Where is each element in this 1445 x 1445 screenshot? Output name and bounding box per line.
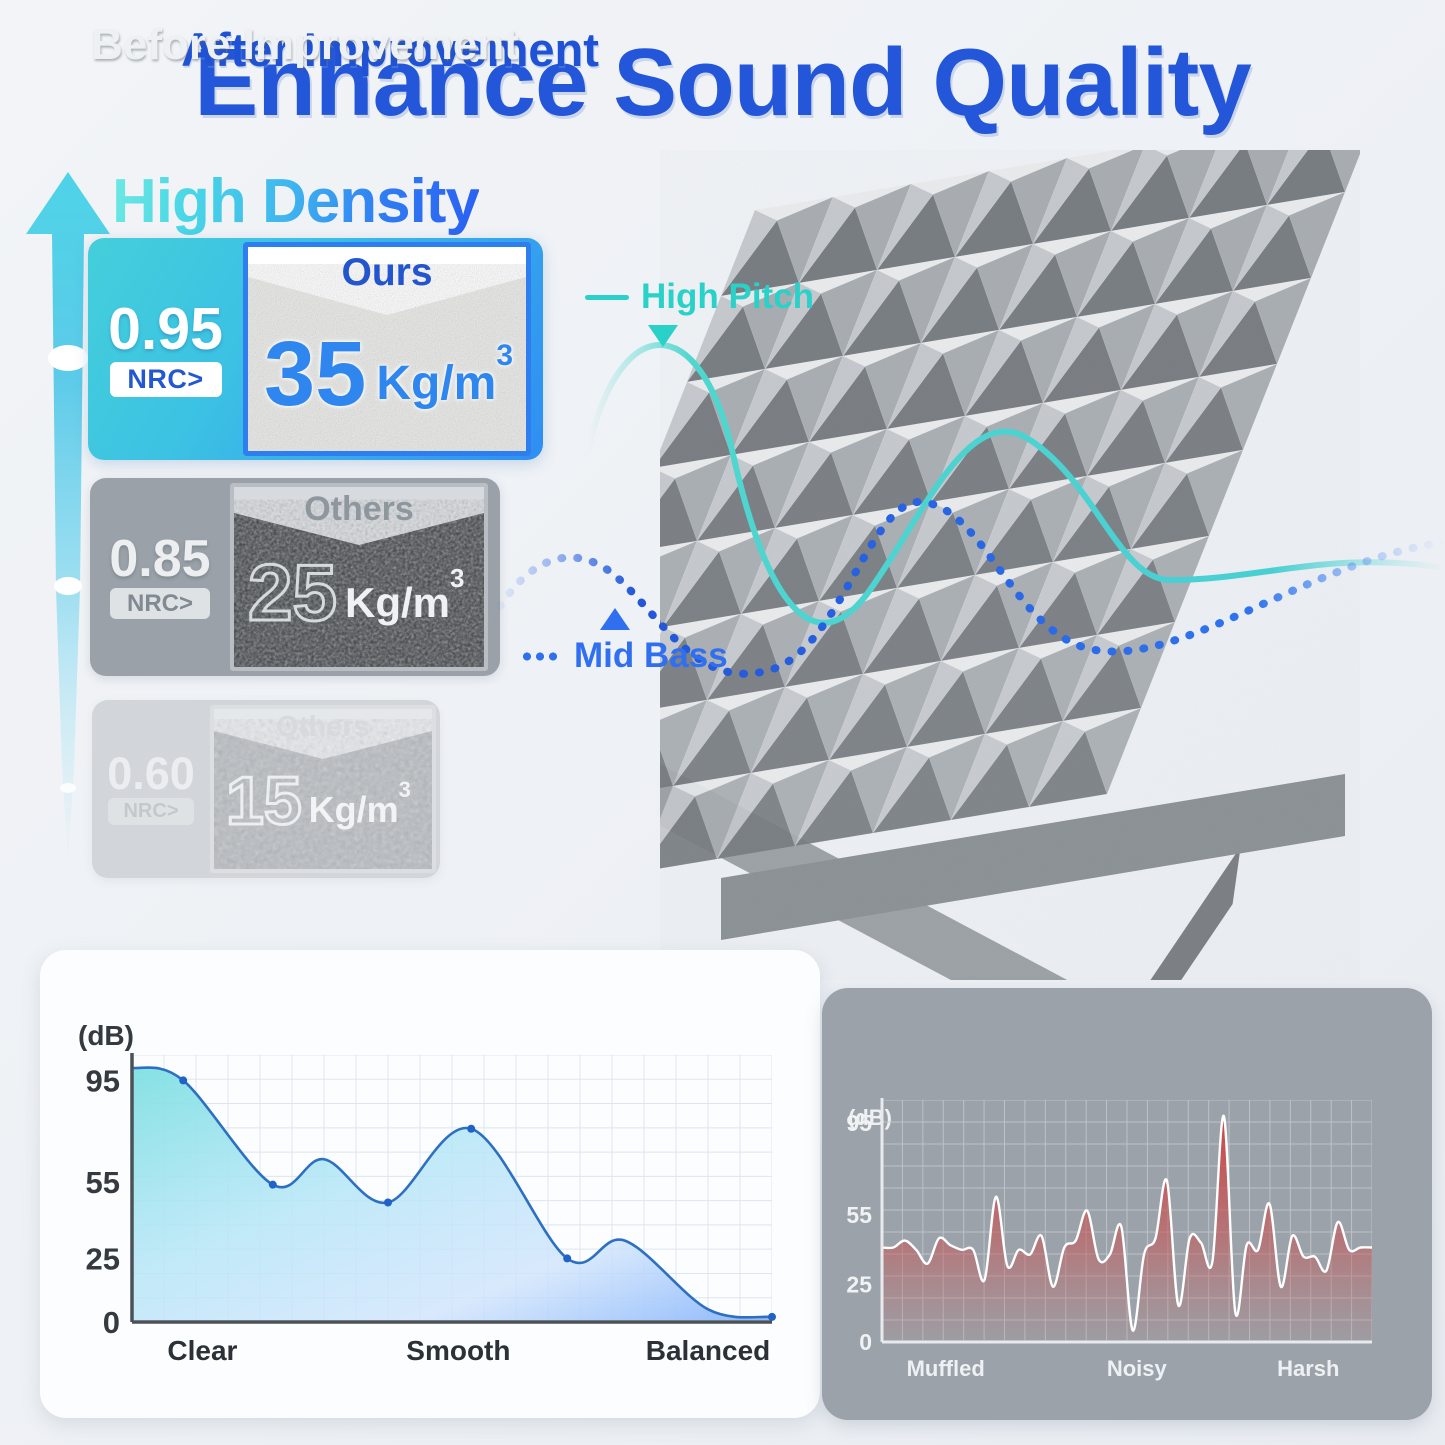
nrc-label: NRC> (110, 362, 222, 397)
svg-text:Balanced: Balanced (646, 1335, 771, 1366)
legend-label: High Pitch (641, 277, 814, 317)
foam-swatch-others-25: Others 25 Kg/m3 (230, 483, 488, 671)
legend-high-pitch: High Pitch (585, 277, 814, 317)
foam-swatch-ours: Ours 35 Kg/m3 (243, 242, 531, 456)
svg-text:25: 25 (846, 1271, 872, 1297)
before-improvement-chart: 9555250 MuffledNoisyHarsh (822, 988, 1432, 1420)
svg-text:95: 95 (86, 1063, 120, 1098)
density-exponent: 3 (399, 779, 411, 801)
density-value: 25 (248, 559, 337, 627)
triangle-up-icon (598, 606, 632, 632)
comparison-card-ours: 0.95 NRC> Ours 35 Kg/m3 (88, 238, 543, 460)
nrc-value: 0.95 (108, 301, 223, 357)
density-unit: Kg/m (345, 585, 450, 621)
legend-mid-bass: Mid Bass (518, 636, 728, 676)
density-readout: 35 Kg/m3 (264, 335, 513, 413)
density-unit: Kg/m (376, 364, 496, 405)
svg-text:Clear: Clear (167, 1335, 237, 1366)
density-unit: Kg/m (309, 795, 399, 826)
svg-text:Muffled: Muffled (907, 1356, 985, 1381)
svg-text:Noisy: Noisy (1107, 1356, 1168, 1381)
comparison-card-others-25: 0.85 NRC> Others 25 Kg/m3 (90, 478, 500, 676)
high-density-title: High Density (112, 166, 479, 237)
svg-text:Harsh: Harsh (1277, 1356, 1339, 1381)
nrc-block: 0.60 NRC> (92, 753, 210, 826)
svg-text:Smooth: Smooth (406, 1335, 510, 1366)
triangle-down-icon (646, 323, 680, 349)
nrc-label: NRC> (108, 798, 194, 825)
density-readout: 25 Kg/m3 (248, 559, 464, 627)
svg-text:0: 0 (103, 1305, 120, 1340)
nrc-block: 0.85 NRC> (90, 535, 230, 619)
density-exponent: 3 (450, 565, 464, 591)
foam-swatch-others-15: Others 15 Kg/m3 (210, 705, 436, 873)
density-value: 35 (264, 335, 366, 413)
legend-line-solid-icon (585, 295, 629, 300)
nrc-block: 0.95 NRC> (88, 301, 243, 396)
legend-line-dotted-icon (518, 650, 562, 663)
card-badge: Ours (248, 251, 526, 295)
before-improvement-title: Before Improvement (0, 20, 610, 70)
svg-text:55: 55 (846, 1202, 872, 1228)
density-readout: 15 Kg/m3 (226, 773, 411, 831)
comparison-card-others-15: 0.60 NRC> Others 15 Kg/m3 (92, 700, 440, 878)
card-badge: Others (214, 711, 432, 744)
density-value: 15 (226, 773, 302, 831)
nrc-value: 0.60 (107, 753, 195, 796)
card-badge: Others (234, 490, 484, 529)
nrc-label: NRC> (110, 588, 210, 619)
legend-label: Mid Bass (574, 636, 728, 676)
nrc-value: 0.85 (109, 535, 210, 584)
product-image-acoustic-panel (660, 150, 1360, 980)
density-exponent: 3 (496, 341, 513, 371)
infographic-root: Enhance Sound Quality High Density 0.95 … (0, 0, 1445, 1445)
svg-text:55: 55 (86, 1165, 120, 1200)
after-improvement-chart: 9555250 ClearSmoothBalanced (40, 950, 820, 1418)
svg-text:25: 25 (86, 1241, 120, 1276)
svg-text:0: 0 (859, 1329, 872, 1355)
svg-text:95: 95 (846, 1110, 872, 1136)
